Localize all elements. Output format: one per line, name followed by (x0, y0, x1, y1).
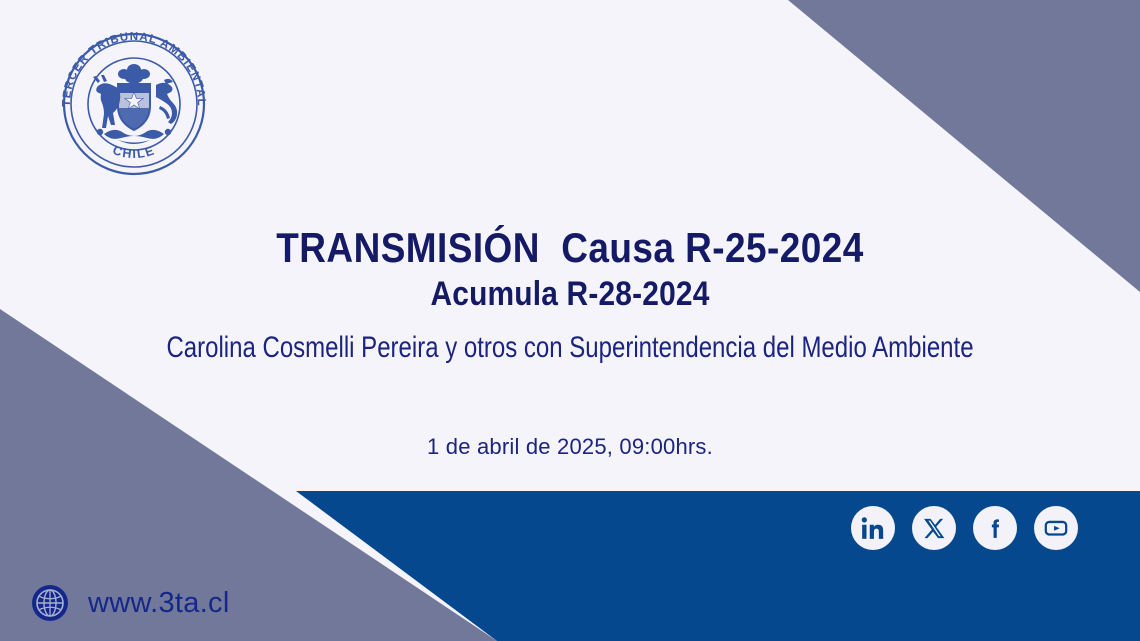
youtube-icon (1043, 515, 1069, 541)
globe-icon (30, 583, 70, 623)
transmission-title: TRANSMISIÓN Causa R-25-2024 (68, 224, 1071, 272)
x-twitter-button[interactable] (912, 506, 956, 550)
linkedin-icon (860, 515, 886, 541)
youtube-button[interactable] (1034, 506, 1078, 550)
seal-ring-text-bottom: CHILE (111, 143, 157, 161)
website-footer[interactable]: www.3ta.cl (30, 583, 230, 623)
facebook-icon (983, 516, 1008, 541)
institution-logo: TERCER TRIBUNAL AMBIENTAL CHILE (48, 22, 220, 182)
facebook-button[interactable] (973, 506, 1017, 550)
huemul-supporter (93, 75, 120, 128)
condor-supporter (156, 79, 177, 124)
linkedin-button[interactable] (851, 506, 895, 550)
shield (118, 84, 150, 130)
x-twitter-icon (923, 517, 946, 540)
coat-of-arms (93, 64, 177, 144)
hearing-datetime: 1 de abril de 2025, 09:00hrs. (0, 434, 1140, 460)
headline-block: TRANSMISIÓN Causa R-25-2024 Acumula R-28… (0, 224, 1140, 368)
transmission-subtitle: Acumula R-28-2024 (68, 274, 1071, 314)
case-parties: Carolina Cosmelli Pereira y otros con Su… (114, 328, 1026, 368)
social-links (851, 506, 1078, 550)
website-url[interactable]: www.3ta.cl (88, 587, 230, 620)
broadcast-title-card: TERCER TRIBUNAL AMBIENTAL CHILE (0, 0, 1140, 641)
